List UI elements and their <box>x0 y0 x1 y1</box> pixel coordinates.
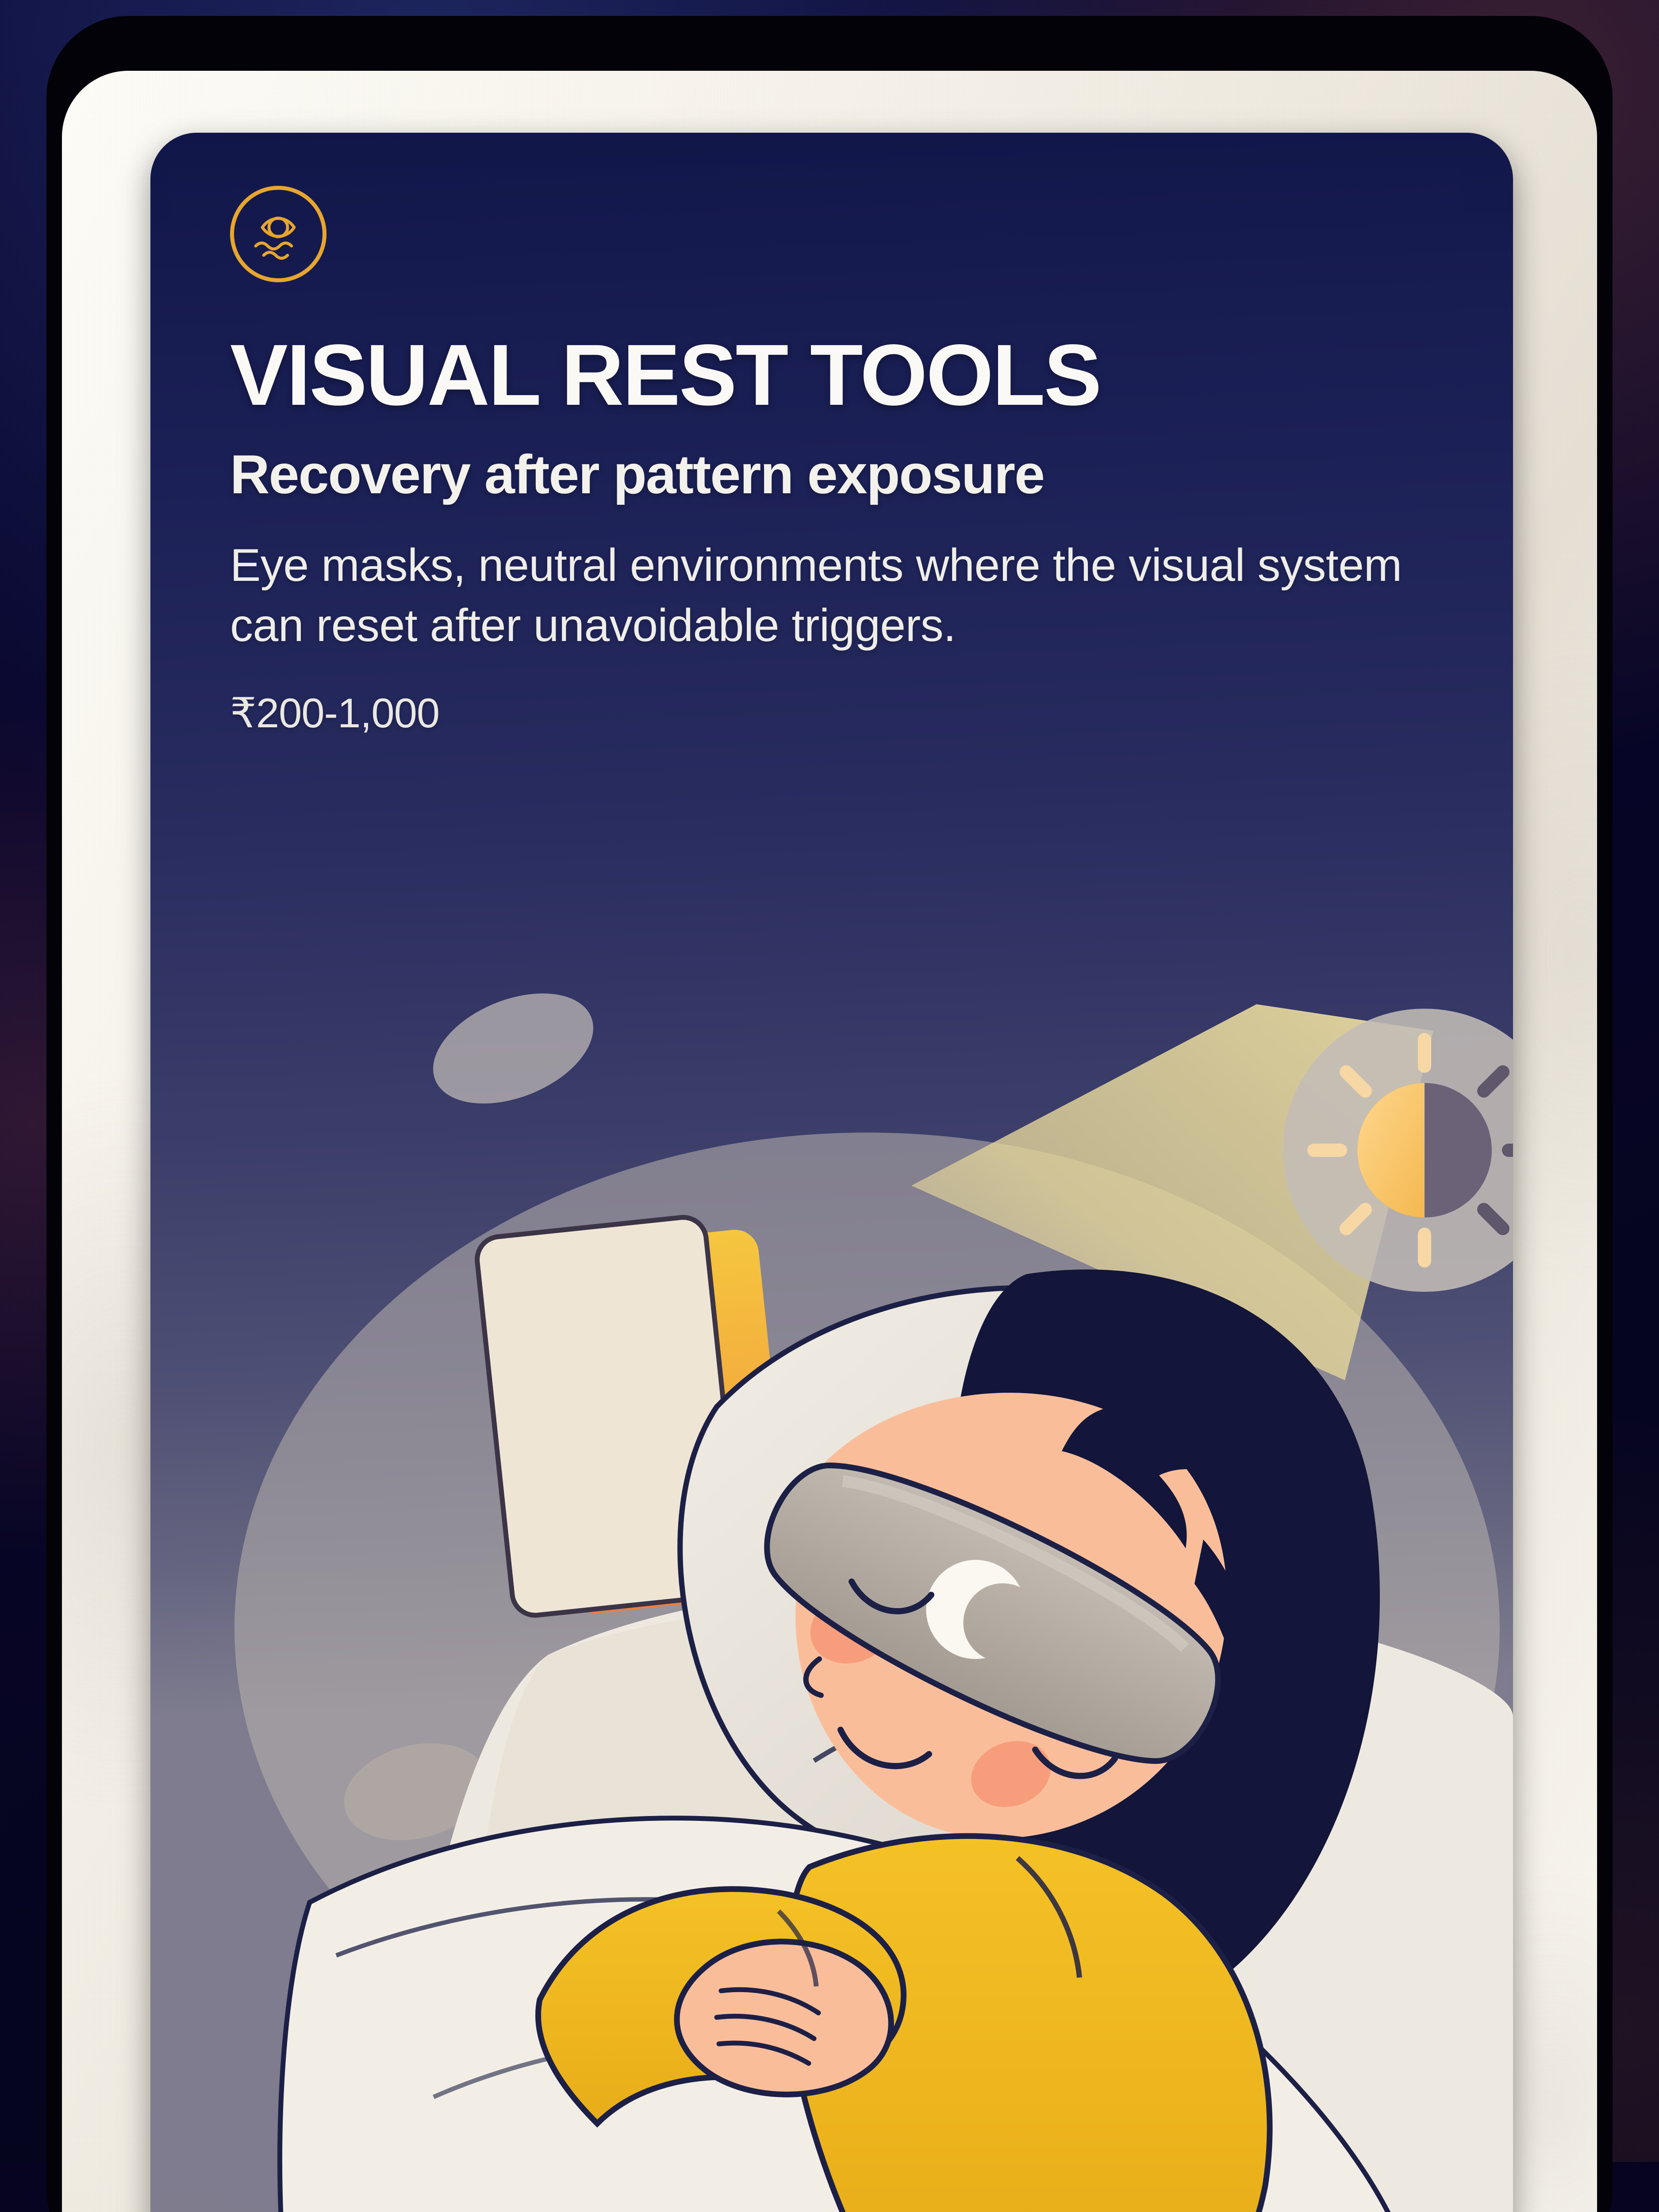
card-body: Eye masks, neutral environments where th… <box>230 536 1425 655</box>
eye-waves-badge <box>230 186 326 282</box>
card-content: VISUAL REST TOOLS Recovery after pattern… <box>230 186 1433 737</box>
eye-waves-icon <box>245 201 311 267</box>
page-title: VISUAL REST TOOLS <box>230 332 1433 419</box>
price-range: ₹200-1,000 <box>230 689 1433 737</box>
illustration <box>150 938 1513 2212</box>
hands <box>677 1942 891 2095</box>
card-subtitle: Recovery after pattern exposure <box>230 446 1433 504</box>
illustration-svg <box>150 938 1513 2212</box>
content-card: VISUAL REST TOOLS Recovery after pattern… <box>150 133 1513 2212</box>
accent-blob-top <box>417 972 610 1125</box>
